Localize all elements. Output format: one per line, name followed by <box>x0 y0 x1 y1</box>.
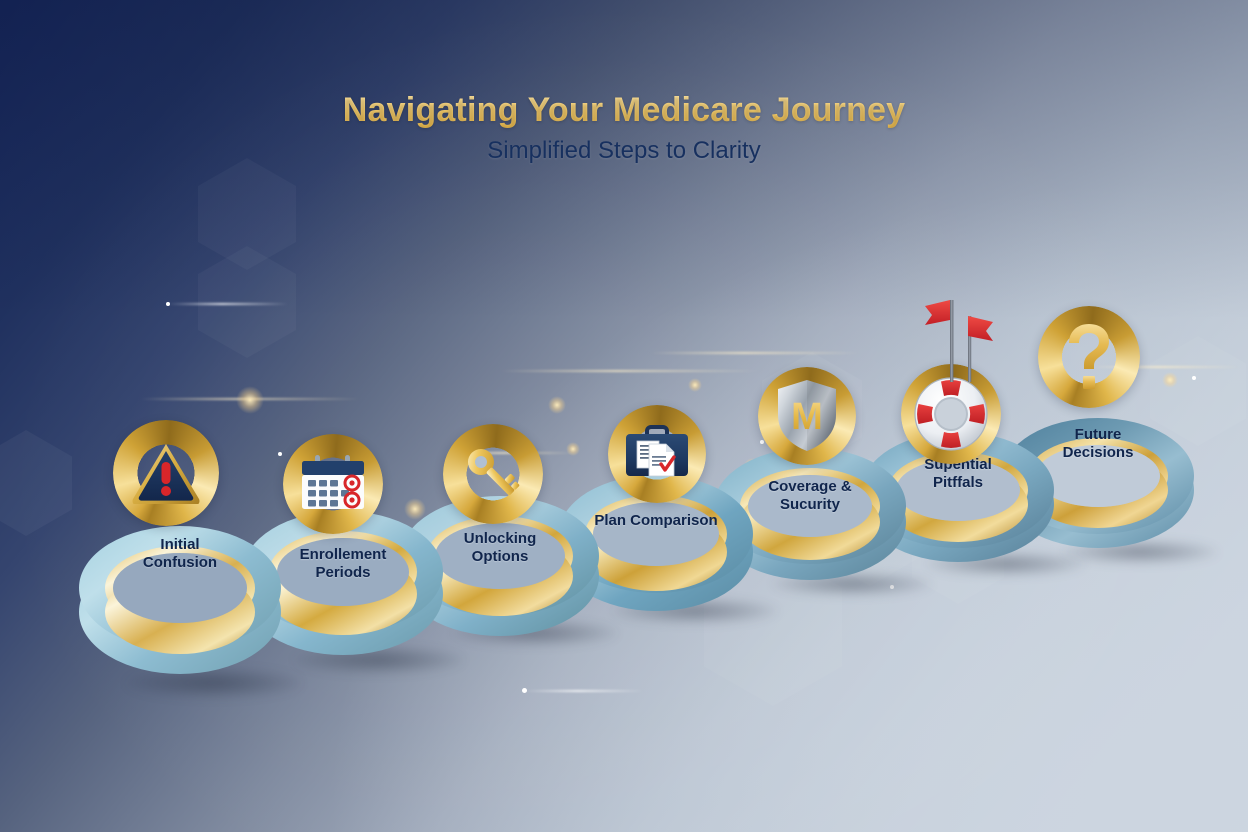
step-label: Coverage & Sucurity <box>748 478 872 515</box>
badge-inner <box>1047 315 1131 399</box>
page-subtitle: Simplified Steps to Clarity <box>0 138 1248 164</box>
sparkle-glow <box>566 442 580 456</box>
step-3-icon-badge[interactable] <box>443 424 543 524</box>
step-2-icon-badge[interactable] <box>283 434 383 534</box>
step-7-icon-badge[interactable] <box>1038 306 1140 408</box>
step-label: Initial Confusion <box>104 536 256 573</box>
step-label: Unlocking Options <box>436 530 564 567</box>
calendar-icon <box>299 453 367 515</box>
sparkle-dot <box>522 688 527 693</box>
light-streak <box>500 370 760 372</box>
step-4-icon-badge[interactable] <box>608 405 706 503</box>
sparkle-glow <box>1162 372 1178 388</box>
badge-inner <box>122 429 210 517</box>
light-streak <box>168 303 288 305</box>
badge-inner: M <box>767 376 847 456</box>
badge-inner <box>292 443 374 525</box>
step-1-icon-badge[interactable] <box>113 420 219 526</box>
sparkle-glow <box>688 378 702 392</box>
ring-torus <box>76 508 284 688</box>
sparkle-dot <box>278 452 282 456</box>
step-5-icon-badge[interactable]: M <box>758 367 856 465</box>
infographic-canvas: Navigating Your Medicare Journey Simplif… <box>0 0 1248 832</box>
sparkle-glow <box>236 386 264 414</box>
badge-inner <box>910 373 992 455</box>
sparkle-glow <box>548 396 566 414</box>
shield-medicare-icon: M <box>776 379 838 453</box>
header: Navigating Your Medicare Journey Simplif… <box>0 92 1248 165</box>
badge-inner <box>617 414 697 494</box>
light-streak <box>650 352 860 354</box>
lifebuoy-icon <box>913 376 989 452</box>
warning-triangle-icon <box>131 442 201 504</box>
step-1-initial-confusion[interactable]: Initial Confusion <box>76 508 284 693</box>
sparkle-dot <box>1192 376 1196 380</box>
sparkle-dot <box>166 302 170 306</box>
question-mark-icon <box>1061 322 1117 392</box>
briefcase-documents-icon <box>623 424 691 484</box>
page-title: Navigating Your Medicare Journey <box>0 92 1248 129</box>
red-flags-icon <box>905 294 1015 384</box>
key-icon <box>461 442 525 506</box>
badge-inner <box>452 433 534 515</box>
light-streak <box>524 690 644 692</box>
step-label: Enrollement Periods <box>265 546 421 583</box>
svg-text:M: M <box>791 396 823 438</box>
